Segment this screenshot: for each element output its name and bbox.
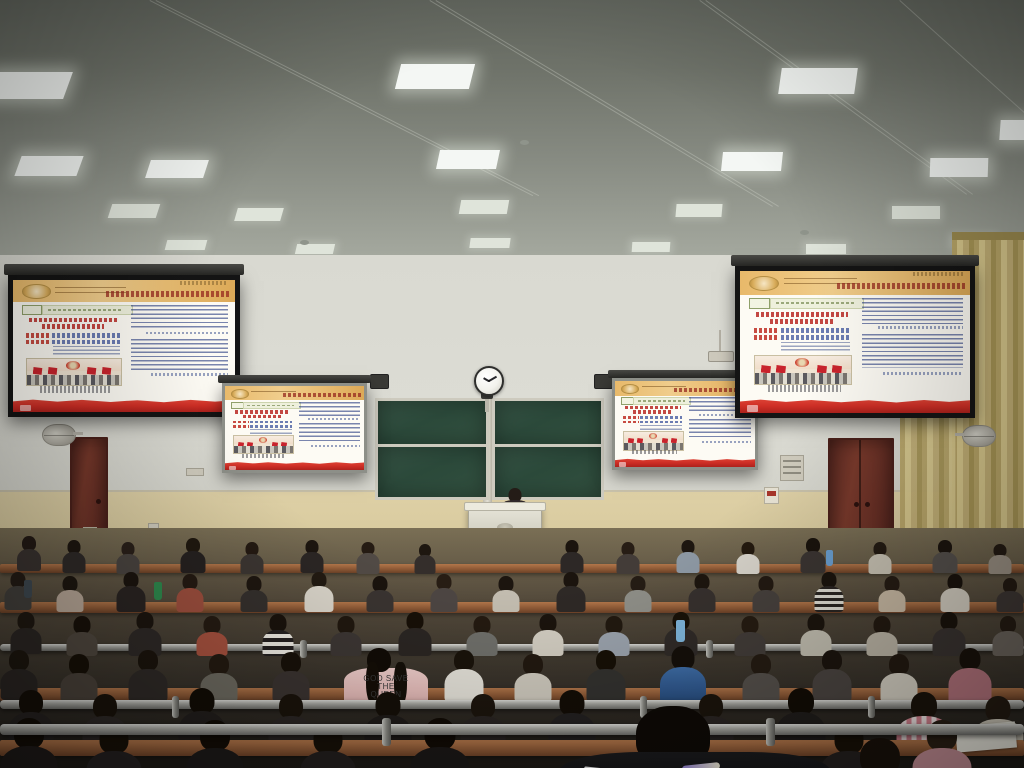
slide-header-note xyxy=(913,272,964,276)
slide-section-number xyxy=(621,397,634,404)
slide-content xyxy=(615,381,755,467)
screen-left-main[interactable] xyxy=(8,275,240,417)
ceiling-lamp xyxy=(721,152,783,171)
audience-person xyxy=(444,650,484,700)
slide-header-note xyxy=(180,281,229,285)
audience-area: GOD SAVE THE QUEEN xyxy=(0,528,1024,768)
slide-header xyxy=(225,386,364,400)
slide-citation-2 xyxy=(702,441,751,443)
audience-person xyxy=(734,616,766,654)
slide-page-number xyxy=(747,405,759,412)
audience-person xyxy=(752,576,780,610)
audience-person xyxy=(736,542,760,572)
slide-bullet-1 xyxy=(754,328,851,332)
black-track-jacket-student xyxy=(560,706,830,768)
slide-content xyxy=(13,280,235,412)
slide-logo xyxy=(621,384,640,394)
slide-paragraph-2 xyxy=(299,423,360,442)
audience-person xyxy=(414,544,436,572)
slide-photo-caption xyxy=(768,385,842,392)
audience-person xyxy=(196,616,228,654)
audience-person xyxy=(988,544,1012,572)
blackboard-panel-tr xyxy=(492,398,604,448)
audience-person xyxy=(304,572,334,610)
audience-person xyxy=(262,614,294,654)
smoke-detector-icon xyxy=(800,230,809,235)
slide-bullet-2 xyxy=(754,335,851,339)
smoke-detector-icon xyxy=(300,240,309,245)
audience-person xyxy=(676,540,700,572)
blackboard-panel-tl xyxy=(375,398,489,448)
audience-person xyxy=(176,574,204,610)
slide-section-number xyxy=(749,298,769,309)
slide-bullet-1 xyxy=(233,421,291,424)
blackboard-panel-bl xyxy=(375,444,489,500)
slide-header xyxy=(13,280,235,302)
audience-person xyxy=(116,542,140,572)
slide-header-title xyxy=(283,393,361,397)
slide-citation-2 xyxy=(883,372,964,375)
audience-person xyxy=(10,612,42,652)
slide-paragraph-1 xyxy=(862,298,963,323)
audience-person xyxy=(616,542,640,572)
audience-person xyxy=(742,654,780,700)
water-bottle xyxy=(676,620,685,642)
slide-footer xyxy=(13,394,235,412)
audience-person xyxy=(688,574,716,610)
water-bottle xyxy=(154,582,162,600)
slide-content xyxy=(225,386,364,470)
audience-person xyxy=(878,576,906,610)
slide-red-title-2 xyxy=(770,319,834,324)
slide-red-title-2 xyxy=(633,410,672,414)
slide-paragraph-1 xyxy=(299,402,360,416)
seat-rail-post xyxy=(706,640,713,658)
ceiling-lamp xyxy=(778,68,858,94)
slide-bullet-1 xyxy=(623,416,682,419)
slide-paragraph-2 xyxy=(131,339,229,370)
smoke-detector-icon xyxy=(520,140,529,145)
slide-photo xyxy=(754,355,853,385)
slide-section-heading xyxy=(42,305,133,315)
audience-person xyxy=(532,614,564,654)
audience-person xyxy=(240,542,264,572)
audience-person xyxy=(840,738,920,768)
audience-person xyxy=(366,576,394,610)
wall-plate-left xyxy=(186,468,204,476)
audience-person xyxy=(866,616,898,654)
wall-fan-left xyxy=(42,424,76,446)
slide-photo-caption xyxy=(242,454,286,458)
slide-red-title-1 xyxy=(29,318,118,323)
vent-right xyxy=(780,455,804,481)
slide-body xyxy=(225,400,364,458)
audience-person xyxy=(556,572,586,610)
ceiling-lamp xyxy=(469,238,510,248)
seat-rail-foreground xyxy=(0,724,1024,735)
ceiling-lamp xyxy=(675,204,722,217)
wall-clock xyxy=(474,366,504,396)
audience-person xyxy=(430,574,458,610)
slide-section-heading xyxy=(770,298,864,309)
slide-page-number xyxy=(619,462,626,466)
slide-red-title-2 xyxy=(243,415,282,418)
slide-header-title xyxy=(106,291,230,297)
slide-red-title-1 xyxy=(235,410,291,413)
slide-citation-1 xyxy=(308,418,359,420)
water-bottle xyxy=(24,580,32,598)
ceiling-lamp xyxy=(234,208,284,221)
slide-citation-1 xyxy=(146,332,228,335)
slide-body xyxy=(13,302,235,393)
audience-person xyxy=(240,576,268,610)
audience-person xyxy=(300,540,324,572)
audience-person xyxy=(940,574,970,610)
slide-paragraph-1 xyxy=(131,305,229,329)
audience-person xyxy=(128,612,162,654)
slide-logo xyxy=(749,276,779,291)
ceiling xyxy=(0,0,1024,272)
audience-person xyxy=(800,614,832,654)
slide-bullet-2-cont xyxy=(53,346,120,356)
striped-shirt-student xyxy=(814,572,844,610)
audience-person xyxy=(514,654,552,700)
slide-section-number xyxy=(231,402,244,409)
slide-citation-1 xyxy=(878,326,963,329)
slide-photo xyxy=(26,358,121,386)
audience-person xyxy=(624,576,652,610)
audience-person xyxy=(116,572,146,610)
slide-footer xyxy=(225,458,364,470)
slide-body xyxy=(740,295,970,393)
slide-paragraph-2 xyxy=(689,419,751,439)
ceiling-lamp xyxy=(806,244,846,254)
screen-roller-case xyxy=(4,264,244,275)
slide-logo xyxy=(231,389,250,399)
slide-bullet-2-cont xyxy=(781,342,850,353)
ceiling-lamp xyxy=(395,64,475,89)
audience-person xyxy=(868,542,892,572)
slide-paragraph-2 xyxy=(862,334,963,367)
slide-bullet-1 xyxy=(26,333,119,337)
audience-person xyxy=(932,540,958,572)
slide-red-title-1 xyxy=(756,312,848,317)
lecture-hall-photo: GOD SAVE THE QUEEN xyxy=(0,0,1024,768)
slide-photo-caption xyxy=(632,450,677,454)
audience-person xyxy=(356,542,380,572)
audience-person xyxy=(16,536,42,570)
slide-header-title xyxy=(837,283,966,289)
slide-page-number xyxy=(20,405,31,411)
slide-body xyxy=(615,396,755,455)
audience-person xyxy=(62,540,86,572)
audience-person xyxy=(800,538,826,572)
slide-bullet-2-cont xyxy=(250,429,292,435)
slide-header xyxy=(740,271,970,295)
ceiling-lamp xyxy=(436,150,500,169)
audience-person xyxy=(996,578,1024,610)
slide-red-title-1 xyxy=(625,406,681,410)
screen-roller-case xyxy=(731,255,979,266)
audience-person xyxy=(272,652,310,700)
slide-content xyxy=(740,271,970,413)
slide-photo xyxy=(623,431,684,451)
audience-person xyxy=(466,616,498,654)
ceiling-lamp xyxy=(0,72,73,99)
slide-section-heading xyxy=(243,402,301,409)
slide-photo-caption xyxy=(40,386,111,392)
water-bottle xyxy=(826,550,833,566)
ceiling-lamp xyxy=(999,120,1024,140)
slide-footer xyxy=(615,455,755,467)
ceiling-lamp xyxy=(14,156,83,176)
slide-photo xyxy=(233,435,293,454)
audience-person xyxy=(66,616,98,654)
ceiling-lamp xyxy=(632,242,671,252)
slide-header xyxy=(615,381,755,396)
slide-footer xyxy=(740,393,970,413)
screen-left-inner[interactable] xyxy=(222,383,367,473)
audience-person xyxy=(598,616,630,654)
slide-section-number xyxy=(22,305,42,315)
slide-bullet-2-cont xyxy=(640,425,682,431)
slide-citation-2 xyxy=(151,373,229,376)
slide-page-number xyxy=(229,466,236,470)
ceiling-lamp xyxy=(930,158,989,177)
audience-person xyxy=(492,576,520,610)
ceiling-lamp xyxy=(459,200,509,214)
screen-right-main[interactable] xyxy=(735,266,975,418)
slide-section-heading xyxy=(633,397,691,404)
audience-person xyxy=(180,538,206,572)
slide-bullet-2 xyxy=(233,425,291,428)
slide-bullet-2 xyxy=(26,340,119,344)
audience-person xyxy=(560,540,584,572)
slide-logo xyxy=(22,284,51,298)
ceiling-lamp xyxy=(108,204,161,218)
extinguisher-box xyxy=(764,487,779,504)
audience-person xyxy=(128,650,168,700)
wall-fan-right xyxy=(962,425,996,447)
seat-rail-post xyxy=(382,718,391,746)
slide-bullet-2 xyxy=(623,421,682,424)
slide-citation-2 xyxy=(311,445,360,447)
projector-rod xyxy=(719,330,721,352)
audience-person xyxy=(992,616,1024,654)
slide-red-title-2 xyxy=(42,324,104,329)
audience-person xyxy=(56,576,84,610)
ceiling-lamp xyxy=(295,244,335,254)
seat-rail-post xyxy=(868,696,875,718)
audience-person xyxy=(948,648,992,702)
screen-roller-case xyxy=(218,375,371,383)
ceiling-lamp xyxy=(892,206,940,219)
speaker-left xyxy=(370,374,389,389)
projector xyxy=(708,351,734,362)
ceiling-lamp xyxy=(145,160,209,178)
ceiling-lamp xyxy=(165,240,208,250)
